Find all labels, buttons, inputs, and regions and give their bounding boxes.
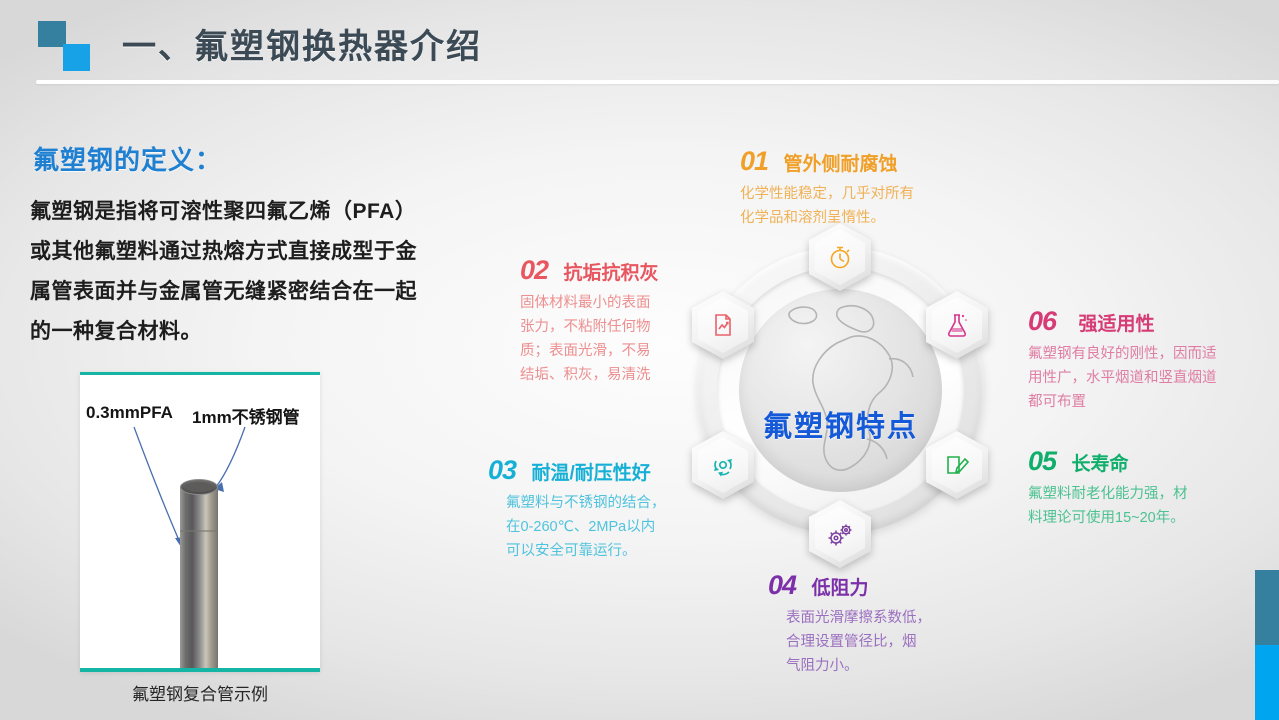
accent-bar-blue (1255, 645, 1279, 720)
feature-05: 05 长寿命 氟塑料耐老化能力强，材 料理论可使用15~20年。 (1028, 446, 1188, 530)
feature-01-title: 管外侧耐腐蚀 (784, 154, 898, 175)
definition-heading: 氟塑钢的定义： (33, 140, 222, 177)
feature-01-description: 化学性能稳定，几乎对所有 化学品和溶剂呈惰性。 (740, 182, 914, 230)
feature-04-description: 表面光滑摩擦系数低， 合理设置管径比，烟 气阻力小。 (786, 606, 931, 678)
feature-02-desc-line-4: 结垢、积灰，易清洗 (520, 363, 659, 387)
features-hub: 氟塑钢特点 (683, 235, 998, 565)
feature-05-title: 长寿命 (1072, 454, 1129, 475)
feature-03-desc-line-1: 氟塑料与不锈钢的结合， (506, 491, 666, 515)
feature-01-number: 01 (740, 146, 768, 176)
feature-05-number: 05 (1028, 446, 1056, 476)
feature-04-desc-line-3: 气阻力小。 (786, 654, 931, 678)
pipe-seam (180, 530, 218, 532)
globe-graphic (739, 289, 942, 492)
feature-02-desc-line-1: 固体材料最小的表面 (520, 291, 659, 315)
feature-01-desc-line-2: 化学品和溶剂呈惰性。 (740, 206, 914, 230)
feature-03-title: 耐温/耐压性好 (532, 463, 651, 484)
feature-02-description: 固体材料最小的表面 张力，不粘附任何物 质；表面光滑，不易 结垢、积灰，易清洗 (520, 291, 659, 387)
document-chart-icon[interactable] (692, 291, 754, 359)
feature-05-desc-line-2: 料理论可使用15~20年。 (1028, 506, 1188, 530)
definition-line-3: 属管表面并与金属管无缝紧密结合在一起 (30, 272, 500, 312)
feature-02-desc-line-2: 张力，不粘附任何物 (520, 315, 659, 339)
feature-04-title: 低阻力 (812, 578, 869, 599)
pipe-body (180, 485, 218, 668)
definition-line-1: 氟塑钢是指将可溶性聚四氟乙烯（PFA） (30, 192, 500, 232)
composite-pipe-photo: 0.3mmPFA 1mm不锈钢管 (80, 372, 320, 672)
accent-bar-teal (1255, 570, 1279, 645)
header-square-dark (38, 21, 66, 47)
feature-04-desc-line-2: 合理设置管径比，烟 (786, 630, 931, 654)
feature-04: 04 低阻力 表面光滑摩擦系数低， 合理设置管径比，烟 气阻力小。 (768, 570, 931, 678)
definition-line-4: 的一种复合材料。 (30, 312, 500, 352)
header-square-blue (63, 44, 90, 71)
feature-06-description: 氟塑钢有良好的刚性，因而适 用性广，水平烟道和竖直烟道 都可布置 (1028, 342, 1217, 414)
stopwatch-icon[interactable] (809, 223, 871, 291)
feature-06-desc-line-3: 都可布置 (1028, 390, 1217, 414)
feature-06-desc-line-1: 氟塑钢有良好的刚性，因而适 (1028, 342, 1217, 366)
feature-03: 03 耐温/耐压性好 氟塑料与不锈钢的结合， 在0-260℃、2MPa以内 可以… (488, 455, 666, 563)
header-divider (36, 80, 1279, 84)
feature-06-desc-line-2: 用性广，水平烟道和竖直烟道 (1028, 366, 1217, 390)
flask-icon[interactable] (926, 291, 988, 359)
feature-04-desc-line-1: 表面光滑摩擦系数低， (786, 606, 931, 630)
feature-05-desc-line-1: 氟塑料耐老化能力强，材 (1028, 482, 1188, 506)
pipe-bore (185, 482, 213, 492)
feature-05-description: 氟塑料耐老化能力强，材 料理论可使用15~20年。 (1028, 482, 1188, 530)
feature-06-number: 06 (1028, 306, 1056, 336)
page-title: 一、氟塑钢换热器介绍 (122, 19, 482, 68)
photo-caption: 氟塑钢复合管示例 (80, 680, 320, 705)
definition-body: 氟塑钢是指将可溶性聚四氟乙烯（PFA） 或其他氟塑料通过热熔方式直接成型于金 属… (30, 192, 500, 352)
definition-line-2: 或其他氟塑料通过热熔方式直接成型于金 (30, 232, 500, 272)
feature-04-number: 04 (768, 570, 796, 600)
feature-03-description: 氟塑料与不锈钢的结合， 在0-260℃、2MPa以内 可以安全可靠运行。 (506, 491, 666, 563)
gears-icon[interactable] (809, 500, 871, 568)
feature-01: 01 管外侧耐腐蚀 化学性能稳定，几乎对所有 化学品和溶剂呈惰性。 (740, 146, 914, 230)
feature-06-title: 强适用性 (1079, 314, 1155, 335)
feature-03-desc-line-2: 在0-260℃、2MPa以内 (506, 515, 666, 539)
feature-02: 02 抗垢抗积灰 固体材料最小的表面 张力，不粘附任何物 质；表面光滑，不易 结… (520, 255, 659, 387)
pencil-edit-icon[interactable] (926, 431, 988, 499)
feature-02-title: 抗垢抗积灰 (564, 263, 659, 284)
feature-02-number: 02 (520, 255, 548, 285)
feature-06: 06 强适用性 氟塑钢有良好的刚性，因而适 用性广，水平烟道和竖直烟道 都可布置 (1028, 306, 1217, 414)
feature-03-number: 03 (488, 455, 516, 485)
feature-01-desc-line-1: 化学性能稳定，几乎对所有 (740, 182, 914, 206)
feature-02-desc-line-3: 质；表面光滑，不易 (520, 339, 659, 363)
recycle-refresh-icon[interactable] (692, 431, 754, 499)
feature-03-desc-line-3: 可以安全可靠运行。 (506, 539, 666, 563)
